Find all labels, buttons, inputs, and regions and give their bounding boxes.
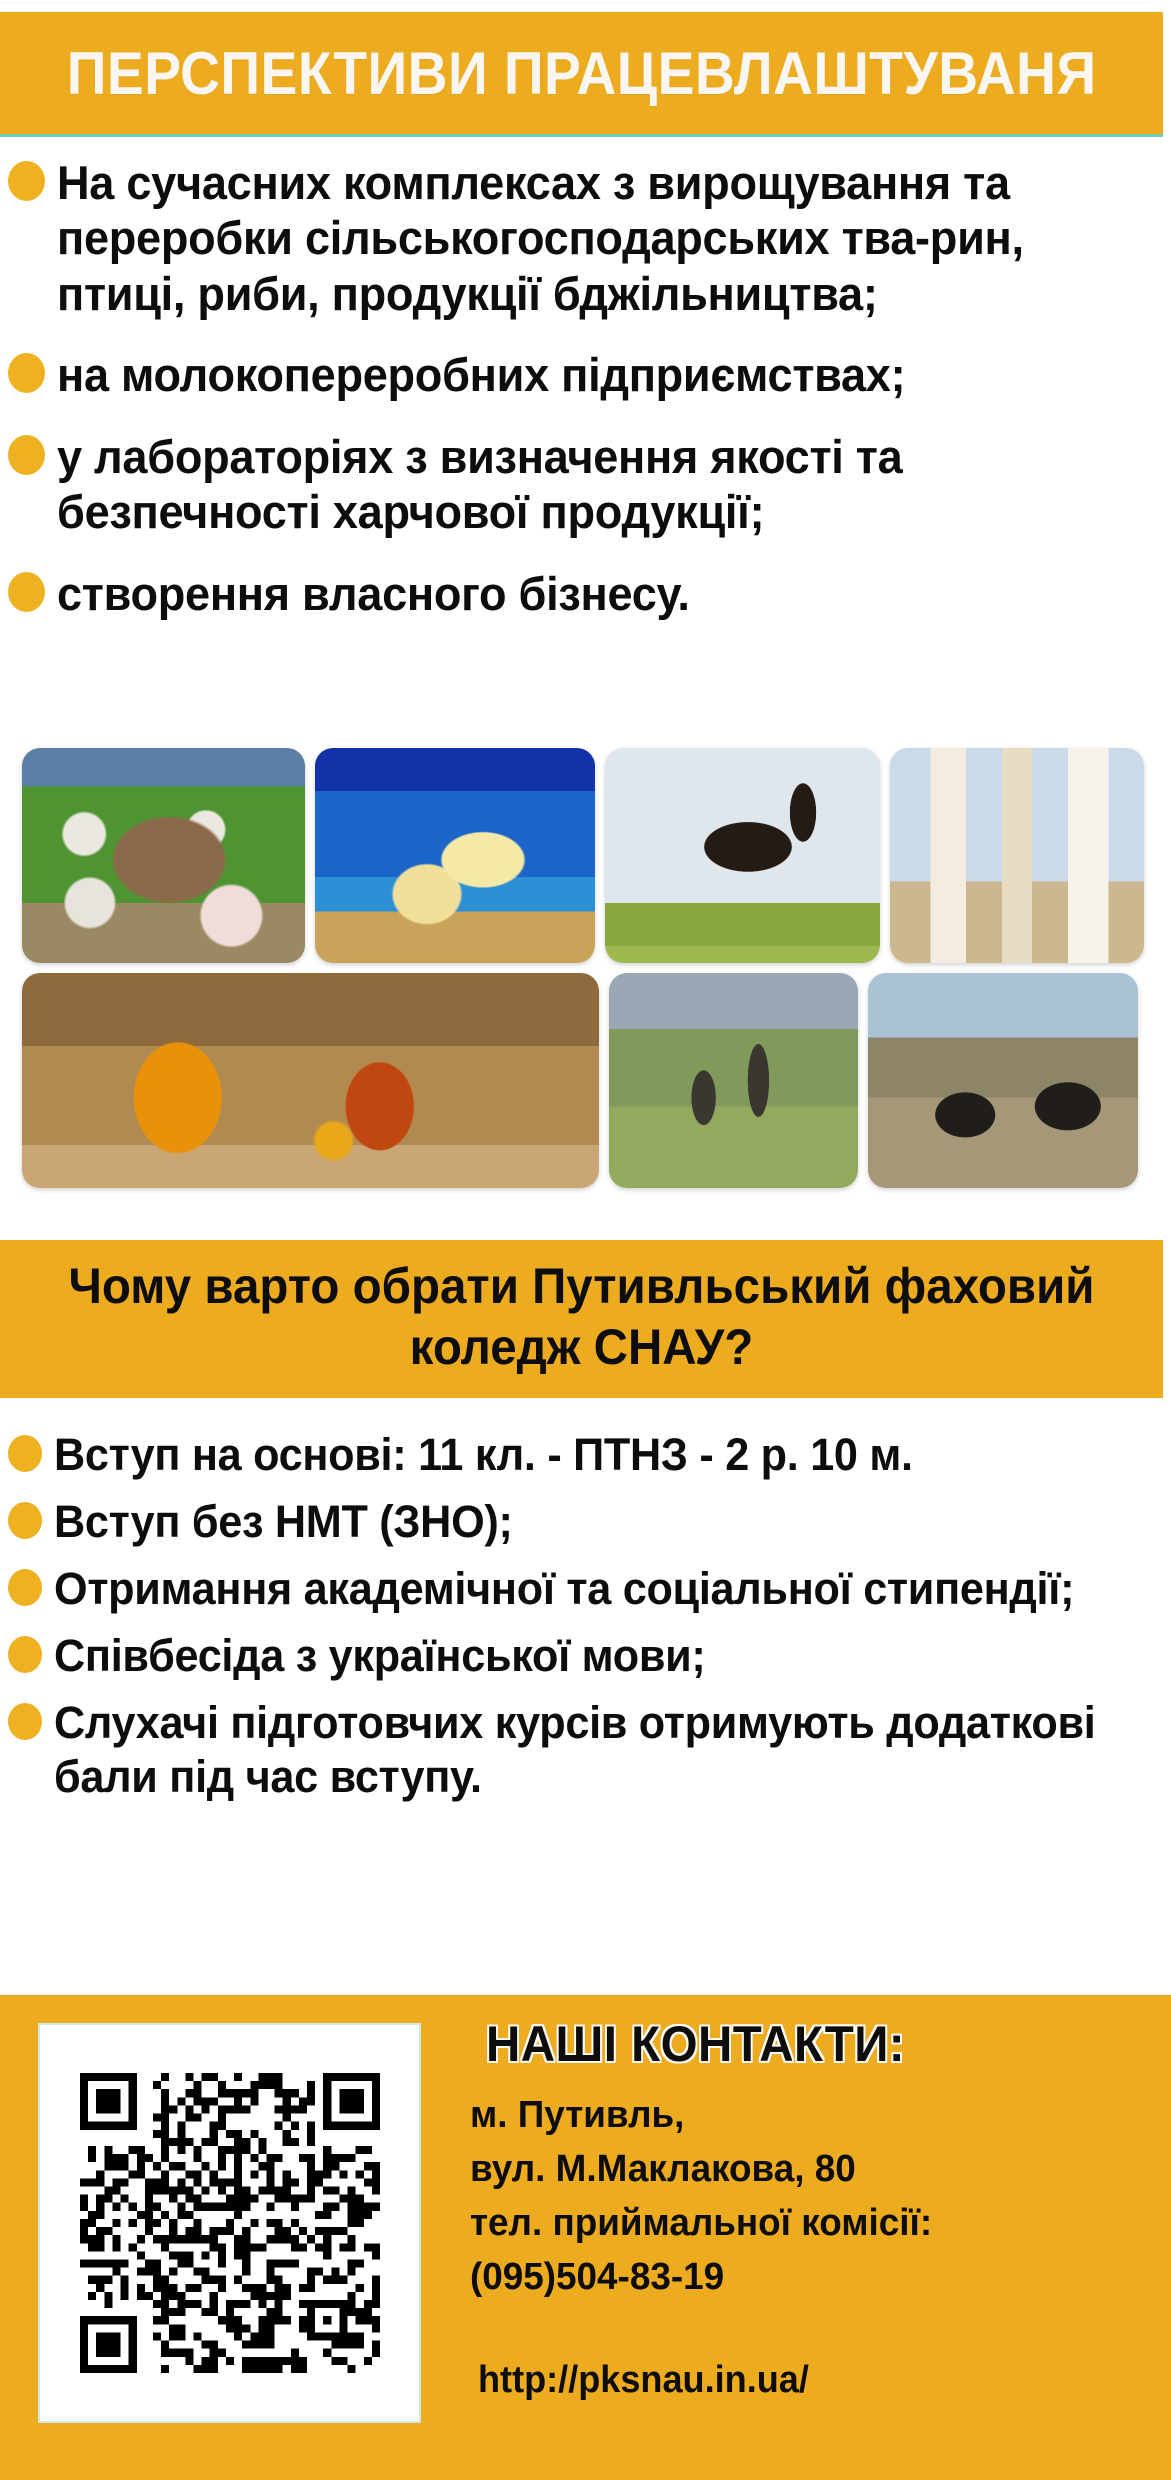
bullet-dot-icon (8, 572, 45, 612)
list-item: На сучасних комплексах з вирощування та … (0, 155, 1171, 321)
list-item: у лабораторіях з визначення якості та бе… (0, 429, 1171, 540)
bullet-dot-icon (8, 1636, 42, 1673)
contacts-footer: НАШІ КОНТАКТИ: м. Путивль, вул. М.Маклак… (0, 1995, 1171, 2480)
bullet-text: у лабораторіях з визначення якості та бе… (57, 429, 1126, 540)
qr-code[interactable] (80, 2073, 380, 2373)
admissions-poster: ПЕРСПЕКТИВИ ПРАЦЕВЛАШТУВАНЯ На сучасних … (0, 0, 1171, 2480)
bullet-dot-icon (8, 161, 45, 201)
list-item: Отримання академічної та соціальної стип… (0, 1562, 1171, 1617)
list-item: Слухачі підготовчих курсів отримують дод… (0, 1696, 1171, 1806)
why-choose-bullet-list: Вступ на основі: 11 кл. - ПТНЗ - 2 р. 10… (0, 1428, 1171, 1817)
qr-code-frame (38, 2023, 421, 2423)
bullet-text: Вступ без НМТ (ЗНО); (54, 1495, 513, 1550)
photo-collage-row-2 (22, 973, 1138, 1188)
list-item: Вступ на основі: 11 кл. - ПТНЗ - 2 р. 10… (0, 1428, 1171, 1483)
bullet-dot-icon (8, 1569, 42, 1606)
bullet-dot-icon (8, 353, 45, 393)
list-item: Співбесіда з української мови; (0, 1629, 1171, 1684)
bullet-text: Вступ на основі: 11 кл. - ПТНЗ - 2 р. 10… (54, 1428, 913, 1483)
contact-phone: (095)504-83-19 (470, 2251, 1110, 2305)
contact-street: вул. М.Маклакова, 80 (470, 2143, 1110, 2197)
poster-header-bar: ПЕРСПЕКТИВИ ПРАЦЕВЛАШТУВАНЯ (0, 12, 1163, 137)
bullet-text: на молокопереробних підприємствах; (57, 347, 905, 402)
bullet-dot-icon (8, 1502, 42, 1539)
bullet-text: Співбесіда з української мови; (54, 1629, 705, 1684)
photo-collage-row-1 (22, 748, 1138, 963)
cattle-and-pigs-photo (22, 748, 305, 963)
contacts-block: НАШІ КОНТАКТИ: м. Путивль, вул. М.Маклак… (470, 2015, 1130, 2402)
page-title: ПЕРСПЕКТИВИ ПРАЦЕВЛАШТУВАНЯ (67, 39, 1097, 108)
list-item: Вступ без НМТ (ЗНО); (0, 1495, 1171, 1550)
bullet-text: На сучасних комплексах з вирощування та … (57, 155, 1126, 321)
contacts-heading: НАШІ КОНТАКТИ: (486, 2015, 1098, 2073)
photo-collage (22, 748, 1138, 1188)
bullet-dot-icon (8, 1703, 42, 1740)
why-choose-college-bar: Чому варто обрати Путивльський фаховий к… (0, 1240, 1163, 1398)
ostriches-photo (868, 973, 1138, 1188)
contact-city: м. Путивль, (470, 2089, 1110, 2143)
bullet-text: Отримання академічної та соціальної стип… (54, 1562, 1074, 1617)
bullet-dot-icon (8, 435, 45, 475)
bullet-dot-icon (8, 1435, 42, 1472)
list-item: на молокопереробних підприємствах; (0, 347, 1171, 402)
bullet-text: створення власного бізнесу. (57, 566, 690, 621)
horse-photo (605, 748, 880, 963)
chicks-photo (315, 748, 595, 963)
contact-website-link[interactable]: http://pksnau.in.ua/ (478, 2359, 1097, 2402)
list-item: створення власного бізнесу. (0, 566, 1171, 621)
honey-products-photo (22, 973, 599, 1188)
dog-training-photo (609, 973, 858, 1188)
contact-phone-label: тел. приймальної комісії: (470, 2197, 1110, 2251)
bullet-text: Слухачі підготовчих курсів отримують дод… (54, 1696, 1126, 1806)
employment-bullet-list: На сучасних комплексах з вирощування та … (0, 155, 1171, 647)
section-title: Чому варто обрати Путивльський фаховий к… (67, 1256, 1096, 1378)
dairy-products-photo (890, 748, 1144, 963)
